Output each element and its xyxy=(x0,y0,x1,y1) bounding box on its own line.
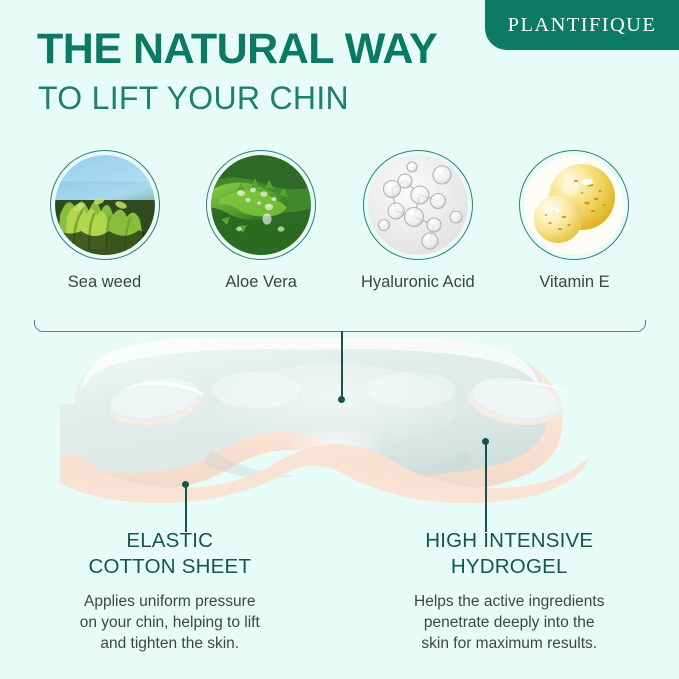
brand-badge: PLANTIFIQUE xyxy=(485,0,679,50)
feature-desc-line2: penetrate deeply into the xyxy=(424,614,595,631)
brand-name: PLANTIFIQUE xyxy=(508,14,657,37)
feature-desc-line1: Helps the active ingredients xyxy=(414,593,604,610)
callout-dot-hydrogel-right xyxy=(482,438,489,445)
divider-mask xyxy=(34,294,646,320)
feature-desc-line2: on your chin, helping to lift xyxy=(80,614,260,631)
callout-line-hydrogel-right xyxy=(485,441,487,532)
feature-list: ELASTIC COTTON SHEET Applies uniform pre… xyxy=(0,528,679,678)
callout-line-hydrogel-top xyxy=(341,331,343,401)
aloe-vera-photo-icon xyxy=(211,155,311,255)
ingredient-name: Vitamin E xyxy=(539,272,609,293)
feature-desc-line3: skin for maximum results. xyxy=(421,635,597,652)
feature-elastic-cotton-sheet: ELASTIC COTTON SHEET Applies uniform pre… xyxy=(0,528,340,678)
ingredient-circle xyxy=(363,150,473,260)
feature-desc-line1: Applies uniform pressure xyxy=(84,593,255,610)
feature-high-intensive-hydrogel: HIGH INTENSIVE HYDROGEL Helps the active… xyxy=(340,528,679,678)
feature-title-line1: ELASTIC xyxy=(126,529,213,552)
callout-line-cotton-left xyxy=(185,484,187,532)
callout-dot-cotton-left xyxy=(182,481,189,488)
feature-description: Applies uniform pressure on your chin, h… xyxy=(80,592,260,655)
feature-title: ELASTIC COTTON SHEET xyxy=(88,528,251,580)
feature-description: Helps the active ingredients penetrate d… xyxy=(414,592,604,655)
ingredient-name: Sea weed xyxy=(68,272,141,293)
ingredient-name: Aloe Vera xyxy=(225,272,297,293)
chin-mask-illustration xyxy=(60,338,620,528)
ingredient-circle xyxy=(519,150,629,260)
ingredient-name: Hyaluronic Acid xyxy=(361,272,475,293)
callout-dot-hydrogel-top xyxy=(338,396,345,403)
ingredient-circle xyxy=(50,150,160,260)
feature-title-line2: HYDROGEL xyxy=(451,555,568,578)
hyaluronic-molecule-icon xyxy=(368,155,468,255)
feature-title: HIGH INTENSIVE HYDROGEL xyxy=(425,528,593,580)
ingredient-circle xyxy=(206,150,316,260)
page-title: THE NATURAL WAY xyxy=(37,28,437,71)
vitamin-e-droplets-icon xyxy=(524,155,624,255)
page-subtitle: TO LIFT YOUR CHIN xyxy=(38,82,349,114)
feature-title-line1: HIGH INTENSIVE xyxy=(425,529,593,552)
seaweed-photo-icon xyxy=(55,155,155,255)
feature-title-line2: COTTON SHEET xyxy=(88,555,251,578)
feature-desc-line3: and tighten the skin. xyxy=(100,635,239,652)
infographic-canvas: PLANTIFIQUE THE NATURAL WAY TO LIFT YOUR… xyxy=(0,0,679,679)
